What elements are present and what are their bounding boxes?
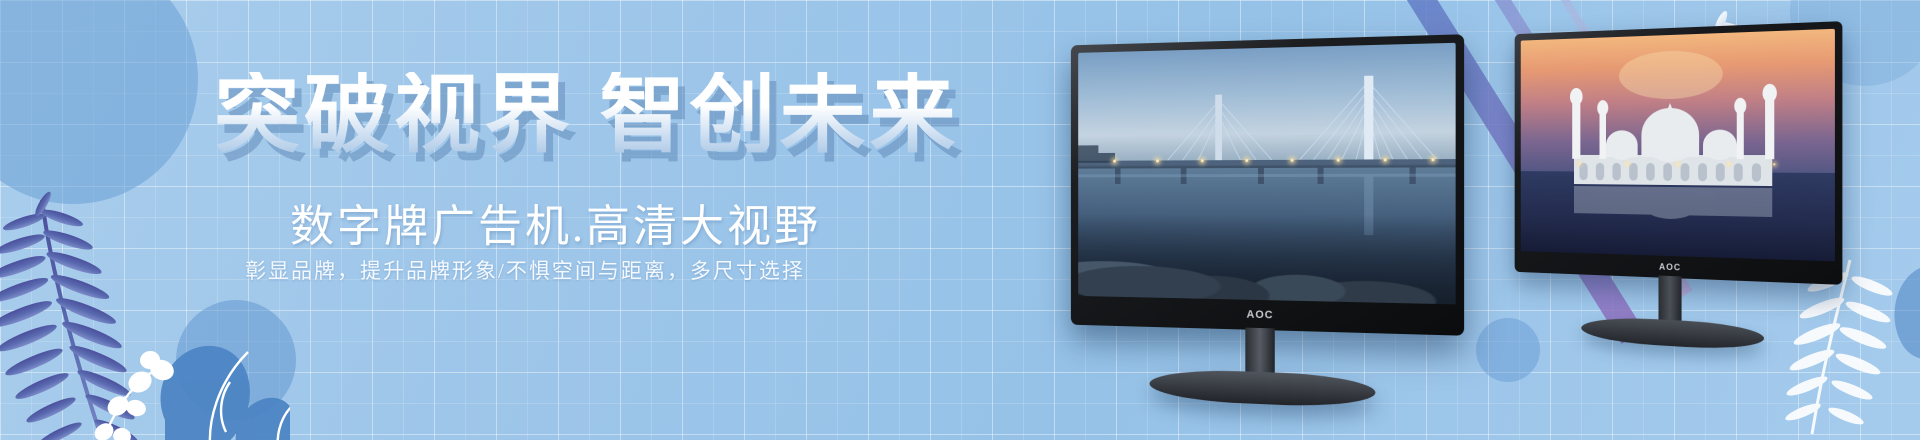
- back-monitor-logo: AOC: [1659, 262, 1681, 273]
- promo-banner: 突破视界 智创未来 数字牌广告机.高清大视野 彰显品牌，提升品牌形象/不惧空间与…: [0, 0, 1920, 440]
- foreground-rocks: [1078, 213, 1455, 304]
- subtitle: 数字牌广告机.高清大视野: [290, 190, 821, 254]
- back-monitor: AOC: [1515, 21, 1843, 285]
- front-monitor-stand-base: [1150, 368, 1376, 409]
- front-monitor-logo: AOC: [1247, 309, 1274, 322]
- product-showcase: AOC: [1060, 0, 1920, 440]
- page-title: 突破视界 智创未来: [214, 72, 960, 158]
- copy-block: 突破视界 智创未来 数字牌广告机.高清大视野 彰显品牌，提升品牌形象/不惧空间与…: [0, 0, 900, 440]
- back-monitor-bezel: AOC: [1515, 21, 1843, 285]
- front-monitor-screen: [1078, 43, 1455, 305]
- back-monitor-screen: [1521, 29, 1835, 262]
- bridge-silhouette-icon: [1078, 74, 1455, 236]
- mosque-silhouette-icon: [1570, 48, 1777, 222]
- back-monitor-stand-base: [1581, 315, 1764, 352]
- tagline: 彰显品牌，提升品牌形象/不惧空间与距离，多尺寸选择: [245, 255, 805, 285]
- front-monitor-bezel: AOC: [1071, 34, 1464, 336]
- front-monitor: AOC: [1071, 34, 1464, 336]
- back-monitor-stand-neck: [1659, 276, 1682, 325]
